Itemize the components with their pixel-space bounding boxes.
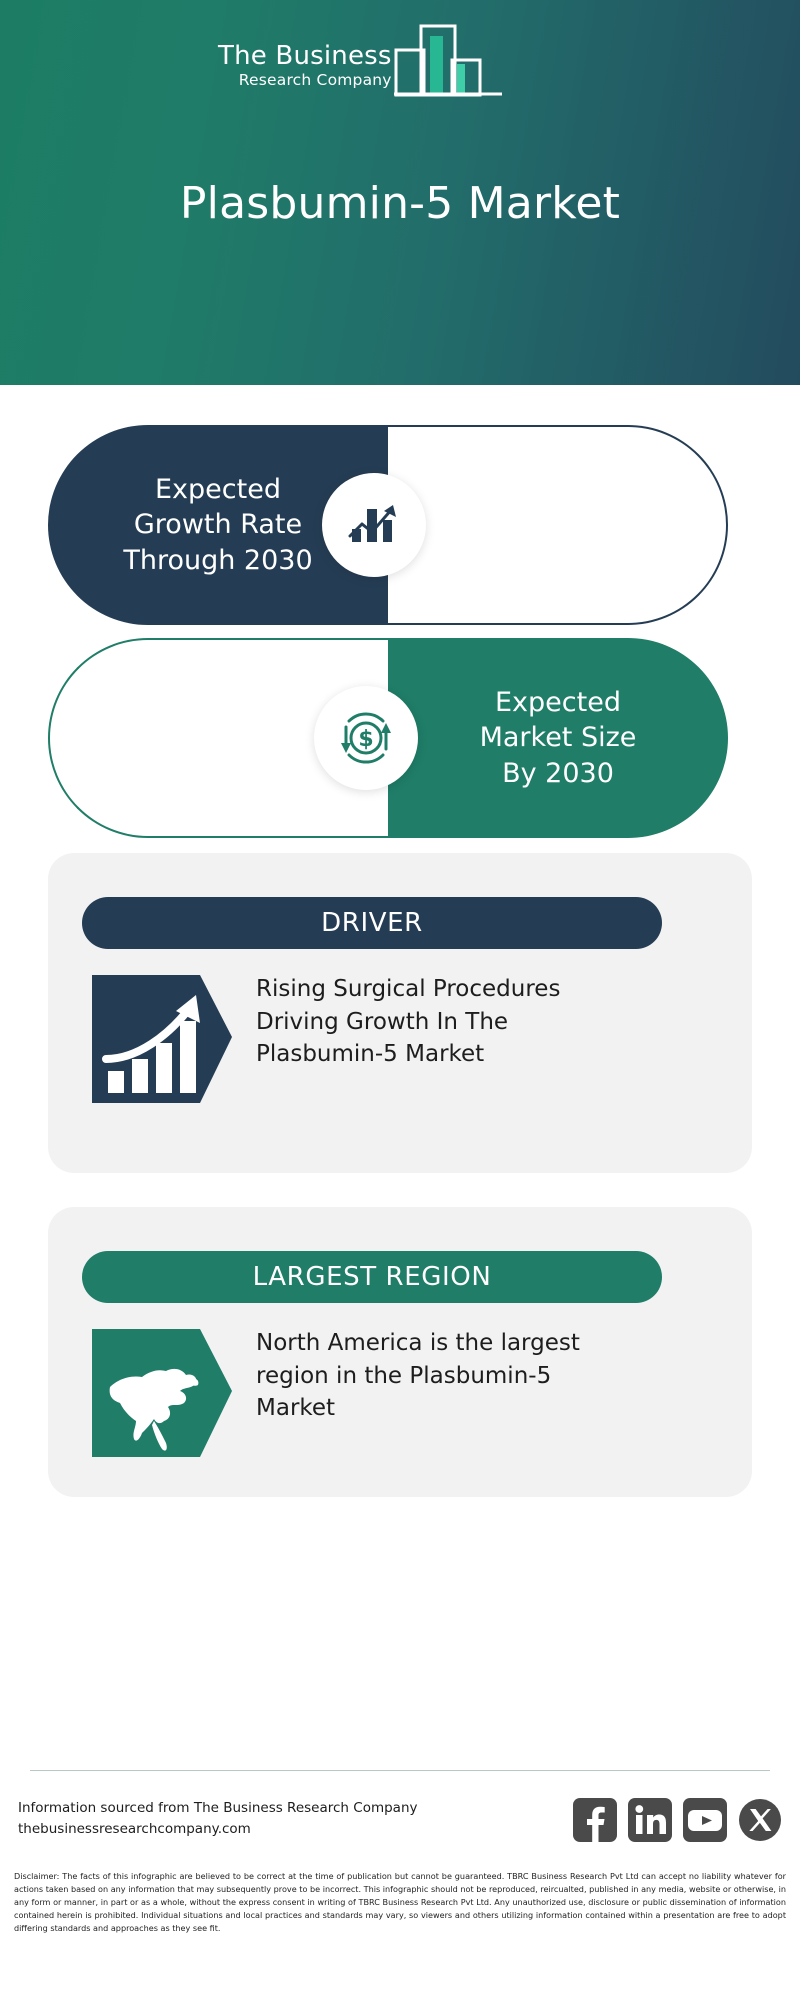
card-text-region: North America is the largest region in t… (256, 1327, 676, 1425)
header-banner: The Business Research Company Plasbumin-… (0, 0, 800, 385)
card-pill-label-region: LARGEST REGION (253, 1262, 492, 1292)
card-pill-region: LARGEST REGION (82, 1251, 662, 1303)
footer: Information sourced from The Business Re… (0, 1770, 800, 2000)
facebook-icon[interactable] (573, 1798, 617, 1842)
stat-value-panel-growth (388, 425, 728, 625)
card-pill-label-driver: DRIVER (321, 908, 423, 938)
bar-chart-logo-icon (394, 20, 502, 98)
rising-bar-chart-arrow-icon (92, 975, 232, 1115)
card-largest-region: LARGEST REGION North America is the larg… (48, 1207, 752, 1497)
logo-text-block: The Business Research Company (218, 43, 392, 98)
svg-text:$: $ (358, 727, 373, 752)
stat-block-market-size: Expected Market Size By 2030 $ (0, 610, 800, 835)
growth-bar-chart-arrow-icon (322, 473, 426, 577)
logo-secondary-text: Research Company (239, 71, 392, 90)
page-title: Plasbumin-5 Market (0, 178, 800, 229)
logo-primary-text: The Business (218, 43, 392, 70)
card-driver: DRIVER Rising Surgical Procedures Drivin… (48, 853, 752, 1173)
x-twitter-icon[interactable] (738, 1798, 782, 1842)
company-logo: The Business Research Company (218, 20, 513, 98)
north-america-map-icon (92, 1329, 232, 1469)
youtube-icon[interactable] (683, 1798, 727, 1842)
stat-label-size: Expected Market Size By 2030 (466, 685, 651, 792)
stat-block-growth-rate: Expected Growth Rate Through 2030 (0, 385, 800, 610)
card-text-driver: Rising Surgical Procedures Driving Growt… (256, 973, 676, 1071)
stat-label-panel-size: Expected Market Size By 2030 (388, 638, 728, 838)
disclaimer-text: Disclaimer: The facts of this infographi… (14, 1870, 786, 1936)
stat-label-growth: Expected Growth Rate Through 2030 (109, 472, 326, 579)
footer-divider (30, 1770, 770, 1771)
dollar-circular-arrows-icon: $ (314, 686, 418, 790)
card-pill-driver: DRIVER (82, 897, 662, 949)
social-links (573, 1798, 782, 1842)
linkedin-icon[interactable] (628, 1798, 672, 1842)
footer-source-text: Information sourced from The Business Re… (18, 1798, 418, 1840)
